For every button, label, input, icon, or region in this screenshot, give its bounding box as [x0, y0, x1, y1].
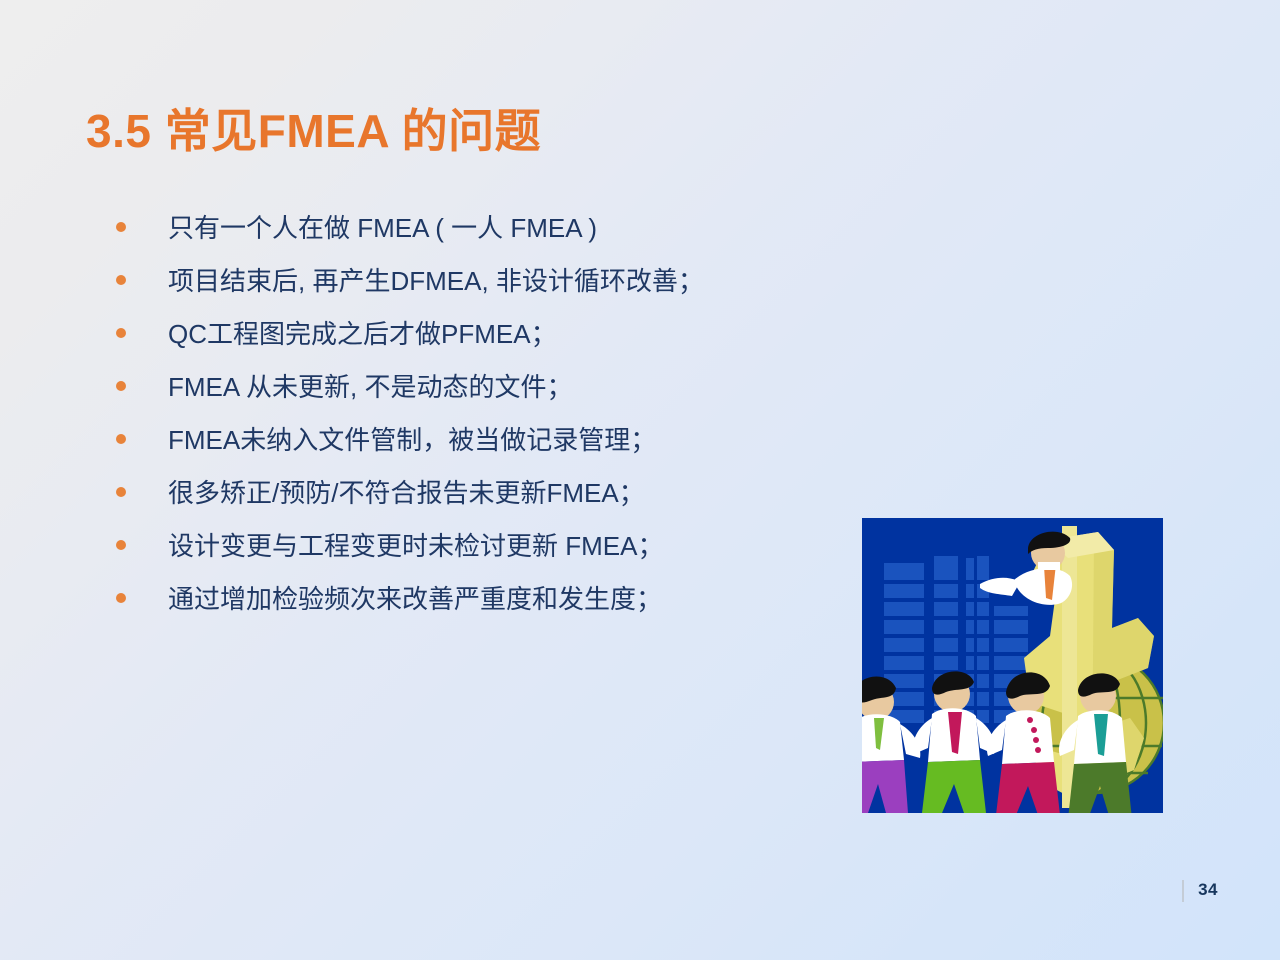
list-item: 通过增加检验频次来改善严重度和发生度；: [108, 571, 868, 624]
bullet-dot-icon: [116, 593, 126, 603]
clipart-image: [862, 518, 1163, 813]
page-number: 34: [1198, 880, 1218, 900]
bullet-dot-icon: [116, 222, 126, 232]
list-item: FMEA未纳入文件管制，被当做记录管理；: [108, 412, 868, 465]
list-item-label: 通过增加检验频次来改善严重度和发生度；: [168, 573, 662, 626]
bullet-dot-icon: [116, 434, 126, 444]
page-title: 3.5 常见FMEA 的问题: [86, 105, 541, 158]
bullet-list: 只有一个人在做 FMEA ( 一人 FMEA ) 项目结束后, 再产生DFMEA…: [108, 200, 868, 624]
bullet-dot-icon: [116, 328, 126, 338]
clipart-svg: [862, 518, 1163, 813]
slide: 3.5 常见FMEA 的问题 只有一个人在做 FMEA ( 一人 FMEA ) …: [0, 0, 1280, 960]
page-number-divider: [1182, 880, 1184, 902]
list-item: 设计变更与工程变更时未检讨更新 FMEA；: [108, 518, 868, 571]
list-item: 项目结束后, 再产生DFMEA, 非设计循环改善；: [108, 253, 868, 306]
bullet-dot-icon: [116, 487, 126, 497]
list-item-label: 只有一个人在做 FMEA ( 一人 FMEA ): [168, 202, 597, 255]
list-item: 很多矫正/预防/不符合报告未更新FMEA；: [108, 465, 868, 518]
list-item-label: FMEA 从未更新, 不是动态的文件；: [168, 361, 572, 414]
list-item-label: QC工程图完成之后才做PFMEA；: [168, 308, 557, 361]
list-item: QC工程图完成之后才做PFMEA；: [108, 306, 868, 359]
list-item-label: 设计变更与工程变更时未检讨更新 FMEA；: [168, 520, 663, 573]
bullet-dot-icon: [116, 381, 126, 391]
list-item-label: FMEA未纳入文件管制，被当做记录管理；: [168, 414, 656, 467]
bullet-dot-icon: [116, 540, 126, 550]
list-item-label: 很多矫正/预防/不符合报告未更新FMEA；: [168, 467, 645, 520]
bullet-dot-icon: [116, 275, 126, 285]
list-item-label: 项目结束后, 再产生DFMEA, 非设计循环改善；: [168, 255, 704, 308]
list-item: FMEA 从未更新, 不是动态的文件；: [108, 359, 868, 412]
list-item: 只有一个人在做 FMEA ( 一人 FMEA ): [108, 200, 868, 253]
